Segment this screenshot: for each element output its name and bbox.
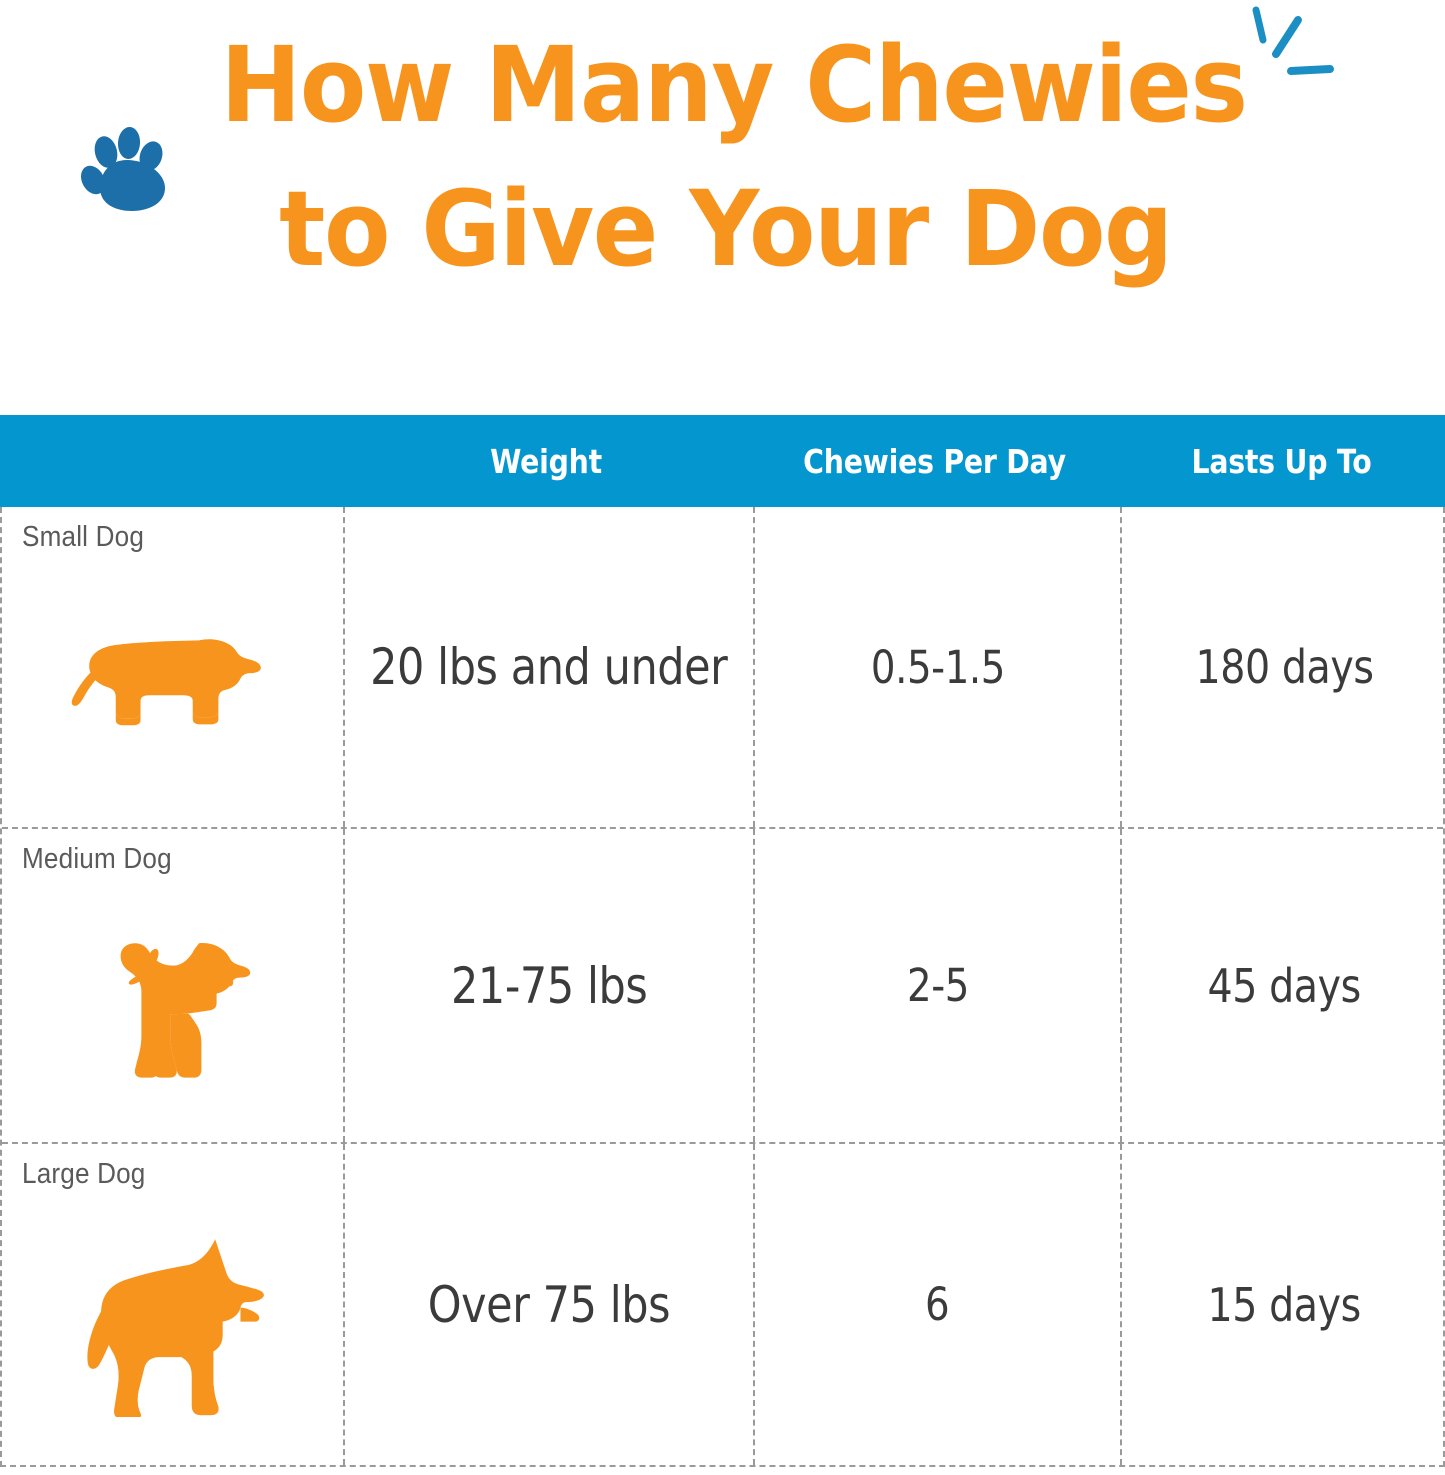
table-header-lasts-up-to: Lasts Up To: [1141, 442, 1422, 481]
table-row: Small Dog 20 lbs and under 0.5: [2, 507, 1443, 827]
title-area: How Many Chewies to Give Your Dog: [0, 0, 1445, 415]
table-cell-weight: 21-75 lbs: [343, 829, 753, 1142]
row-label-medium-dog: Medium Dog: [22, 843, 172, 876]
page-title-line-1: How Many Chewies: [72, 14, 1395, 158]
table-header-chewies-per-day: Chewies Per Day: [777, 442, 1093, 481]
shepherd-silhouette-icon: [22, 1181, 343, 1465]
weight-value: Over 75 lbs: [428, 1276, 670, 1334]
table-row: Large Dog Over 75 lbs: [2, 1142, 1443, 1465]
table-cell-dog-size: Large Dog: [2, 1144, 343, 1465]
table-header-row: Weight Chewies Per Day Lasts Up To: [0, 415, 1445, 507]
table-header-weight: Weight: [370, 442, 723, 481]
page-title-line-2: to Give Your Dog: [56, 158, 1394, 302]
row-label-small-dog: Small Dog: [22, 521, 144, 554]
table-cell-dog-size: Small Dog: [2, 507, 343, 827]
dachshund-silhouette-icon: [22, 544, 343, 827]
table-cell-weight: 20 lbs and under: [343, 507, 753, 827]
table-cell-chewies-per-day: 0.5-1.5: [753, 507, 1120, 827]
table-cell-weight: Over 75 lbs: [343, 1144, 753, 1465]
table-cell-lasts-up-to: 180 days: [1120, 507, 1445, 827]
dosage-table: Weight Chewies Per Day Lasts Up To Small…: [0, 415, 1445, 1467]
table-cell-lasts-up-to: 15 days: [1120, 1144, 1445, 1465]
weight-value: 21-75 lbs: [451, 957, 647, 1015]
lasts-up-to-value: 15 days: [1208, 1278, 1361, 1332]
chewies-per-day-value: 6: [925, 1278, 949, 1331]
lasts-up-to-value: 45 days: [1208, 959, 1361, 1013]
weight-value: 20 lbs and under: [370, 638, 727, 696]
table-cell-chewies-per-day: 6: [753, 1144, 1120, 1465]
table-cell-dog-size: Medium Dog: [2, 829, 343, 1142]
lasts-up-to-value: 180 days: [1195, 640, 1373, 694]
row-label-large-dog: Large Dog: [22, 1158, 146, 1191]
table-body: Small Dog 20 lbs and under 0.5: [0, 507, 1445, 1467]
chewies-per-day-value: 2-5: [907, 959, 969, 1012]
table-cell-chewies-per-day: 2-5: [753, 829, 1120, 1142]
table-cell-lasts-up-to: 45 days: [1120, 829, 1445, 1142]
table-row: Medium Dog 21-75 lbs: [2, 827, 1443, 1142]
beagle-silhouette-icon: [22, 866, 343, 1142]
chewies-per-day-value: 0.5-1.5: [870, 641, 1004, 694]
page-title: How Many Chewies to Give Your Dog: [0, 14, 1445, 301]
